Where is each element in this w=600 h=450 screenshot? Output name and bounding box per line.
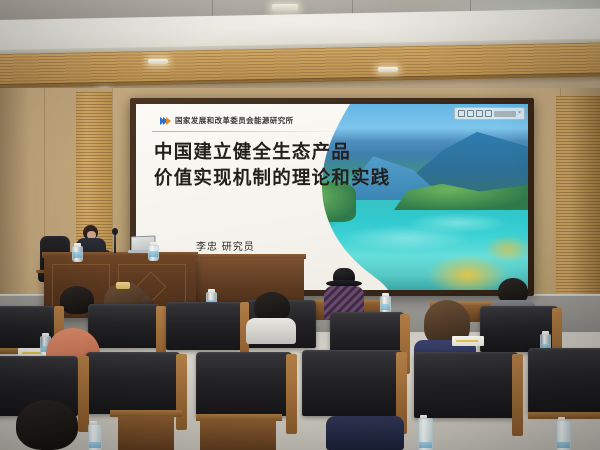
slide-title-line2: 价值实现机制的理论和实践 — [154, 166, 390, 192]
bottle-label — [419, 442, 432, 448]
auditorium-seat — [166, 302, 242, 350]
auditorium-seat — [528, 348, 600, 414]
attendee-head — [16, 400, 78, 450]
auditorium-seat — [302, 350, 402, 416]
bottle-label — [149, 251, 158, 257]
slide-organization-label: 国家发展和改革委员会能源研究所 — [175, 115, 294, 126]
slide-title: 中国建立健全生态产品 价值实现机制的理论和实践 — [154, 140, 390, 193]
water-bottle — [556, 420, 571, 450]
wall-downlight-icon — [378, 67, 398, 72]
attendee-torso — [326, 416, 404, 450]
auditorium-seat — [414, 352, 518, 418]
toolbar-slide-indicator — [494, 111, 516, 117]
conference-hall-photo: 国家发展和改革委员会能源研究所 中国建立健全生态产品 价值实现机制的理论和实践 … — [0, 0, 600, 450]
wall-downlight-icon — [148, 59, 168, 64]
bottle-cap — [90, 421, 97, 425]
close-icon[interactable]: × — [518, 111, 521, 116]
seat-armrest — [78, 356, 89, 432]
auditorium-seat — [196, 352, 292, 416]
seat-armrest — [176, 354, 187, 430]
ceiling-downlight-icon — [272, 4, 298, 11]
slide-title-line1: 中国建立健全生态产品 — [154, 140, 390, 166]
wall-shadow — [0, 88, 30, 328]
bottle-label — [89, 442, 101, 448]
shape-icon[interactable] — [476, 110, 483, 117]
slide-header-rule — [152, 131, 352, 132]
triple-chevron-icon — [160, 117, 169, 125]
bottle-cap — [74, 243, 81, 247]
auditorium-seat — [88, 304, 160, 348]
seat-armrest — [286, 354, 297, 434]
water-bottle — [88, 424, 102, 450]
water-bottle — [418, 418, 433, 450]
bottle-label — [73, 252, 82, 258]
attendee-torso — [246, 318, 296, 344]
audience-desk-front — [118, 416, 174, 450]
water-bottle — [148, 245, 159, 261]
bottle-cap — [208, 289, 215, 293]
wall-shadow — [560, 88, 600, 328]
bottle-cap — [420, 415, 427, 419]
auditorium-seat — [86, 352, 180, 414]
bottle-cap — [382, 293, 389, 297]
paper-highlight — [22, 352, 42, 354]
bottle-label — [557, 442, 570, 448]
pen-icon[interactable] — [458, 110, 465, 117]
bottle-cap — [542, 331, 549, 335]
seat-armrest — [512, 354, 523, 436]
slide-presenter-name: 李忠 研究员 — [196, 238, 255, 253]
water-bottle — [72, 246, 83, 262]
hair-clip — [116, 282, 130, 289]
audience-desk-front — [200, 420, 276, 450]
mic-capsule — [112, 228, 118, 235]
bottle-cap — [558, 417, 565, 421]
presentation-overlay-toolbar[interactable]: × — [454, 107, 525, 120]
highlighter-icon[interactable] — [467, 110, 474, 117]
podium-microphone — [114, 231, 116, 253]
bottle-cap — [42, 333, 49, 337]
laser-icon[interactable] — [485, 110, 492, 117]
slide-header: 国家发展和改革委员会能源研究所 — [160, 115, 294, 126]
paper-highlight — [456, 340, 478, 342]
bottle-label — [381, 304, 390, 310]
bottle-cap — [150, 242, 157, 246]
